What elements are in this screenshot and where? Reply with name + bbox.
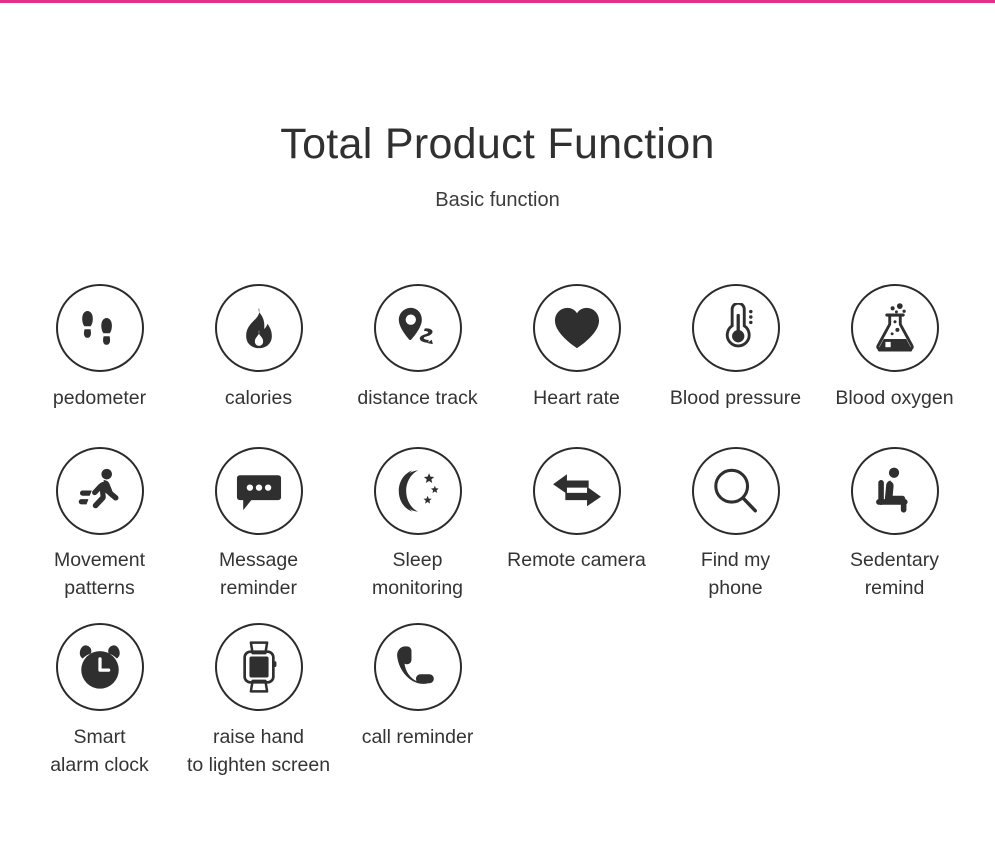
- page-header: Total Product Function Basic function: [0, 0, 995, 211]
- feature-label: Smart alarm clock: [50, 724, 149, 780]
- feature-item-sedentary-remind[interactable]: Sedentary remind: [815, 447, 974, 603]
- flask-icon: [871, 302, 919, 354]
- icon-circle: [215, 447, 303, 535]
- feature-item-raise-hand[interactable]: raise hand to lighten screen: [179, 623, 338, 780]
- feature-item-heart-rate[interactable]: Heart rate: [497, 284, 656, 413]
- feature-item-blood-pressure[interactable]: Blood pressure: [656, 284, 815, 413]
- feature-label: Message reminder: [219, 547, 298, 603]
- feature-label: calories: [225, 385, 292, 413]
- sitting-person-icon: [871, 466, 919, 516]
- feature-row: Movement patterns Message reminder: [20, 447, 975, 603]
- icon-circle: [56, 447, 144, 535]
- feature-label: Sleep monitoring: [372, 547, 463, 603]
- feature-item-message-reminder[interactable]: Message reminder: [179, 447, 338, 603]
- icon-circle: [374, 623, 462, 711]
- feature-label: Find my phone: [701, 547, 770, 603]
- running-person-icon: [75, 466, 125, 516]
- feature-item-remote-camera[interactable]: Remote camera: [497, 447, 656, 575]
- thermometer-icon: [713, 303, 759, 353]
- feature-label: distance track: [357, 385, 477, 413]
- icon-circle: [533, 284, 621, 372]
- icon-circle: [374, 447, 462, 535]
- icon-circle: [851, 447, 939, 535]
- page-subtitle: Basic function: [0, 167, 995, 211]
- feature-item-blood-oxygen[interactable]: Blood oxygen: [815, 284, 974, 413]
- feature-item-call-reminder[interactable]: call reminder: [338, 623, 497, 752]
- moon-stars-icon: [392, 466, 444, 516]
- feature-label: call reminder: [362, 724, 474, 752]
- two-way-arrows-icon: [551, 469, 603, 513]
- icon-circle: [56, 623, 144, 711]
- smartwatch-icon: [237, 640, 281, 694]
- feature-row: pedometer calories: [20, 284, 975, 413]
- icon-circle: [56, 284, 144, 372]
- feature-label: pedometer: [53, 385, 146, 413]
- icon-circle: [692, 284, 780, 372]
- feature-item-smart-alarm-clock[interactable]: Smart alarm clock: [20, 623, 179, 780]
- feature-item-pedometer[interactable]: pedometer: [20, 284, 179, 413]
- icon-circle: [851, 284, 939, 372]
- heart-icon: [552, 305, 602, 351]
- speech-bubble-icon: [234, 468, 284, 514]
- icon-circle: [692, 447, 780, 535]
- feature-item-find-my-phone[interactable]: Find my phone: [656, 447, 815, 603]
- footprints-icon: [75, 303, 125, 353]
- feature-item-movement-patterns[interactable]: Movement patterns: [20, 447, 179, 603]
- feature-label: Blood oxygen: [835, 385, 953, 413]
- icon-circle: [215, 623, 303, 711]
- feature-item-calories[interactable]: calories: [179, 284, 338, 413]
- feature-item-distance-track[interactable]: distance track: [338, 284, 497, 413]
- feature-label: Movement patterns: [54, 547, 145, 603]
- page-title: Total Product Function: [0, 0, 995, 167]
- feature-grid: pedometer calories: [0, 284, 995, 779]
- product-function-poster: Total Product Function Basic function: [0, 0, 995, 852]
- magnifier-icon: [711, 466, 761, 516]
- feature-label: Heart rate: [533, 385, 620, 413]
- map-pin-route-icon: [392, 304, 444, 352]
- icon-circle: [374, 284, 462, 372]
- icon-circle: [533, 447, 621, 535]
- alarm-clock-icon: [75, 642, 125, 692]
- feature-label: raise hand to lighten screen: [187, 724, 330, 780]
- icon-circle: [215, 284, 303, 372]
- feature-row: Smart alarm clock raise hand to ligh: [20, 623, 975, 780]
- feature-item-sleep-monitoring[interactable]: Sleep monitoring: [338, 447, 497, 603]
- feature-label: Blood pressure: [670, 385, 801, 413]
- feature-label: Sedentary remind: [850, 547, 939, 603]
- feature-label: Remote camera: [507, 547, 646, 575]
- phone-handset-icon: [395, 643, 441, 691]
- flame-icon: [236, 305, 282, 351]
